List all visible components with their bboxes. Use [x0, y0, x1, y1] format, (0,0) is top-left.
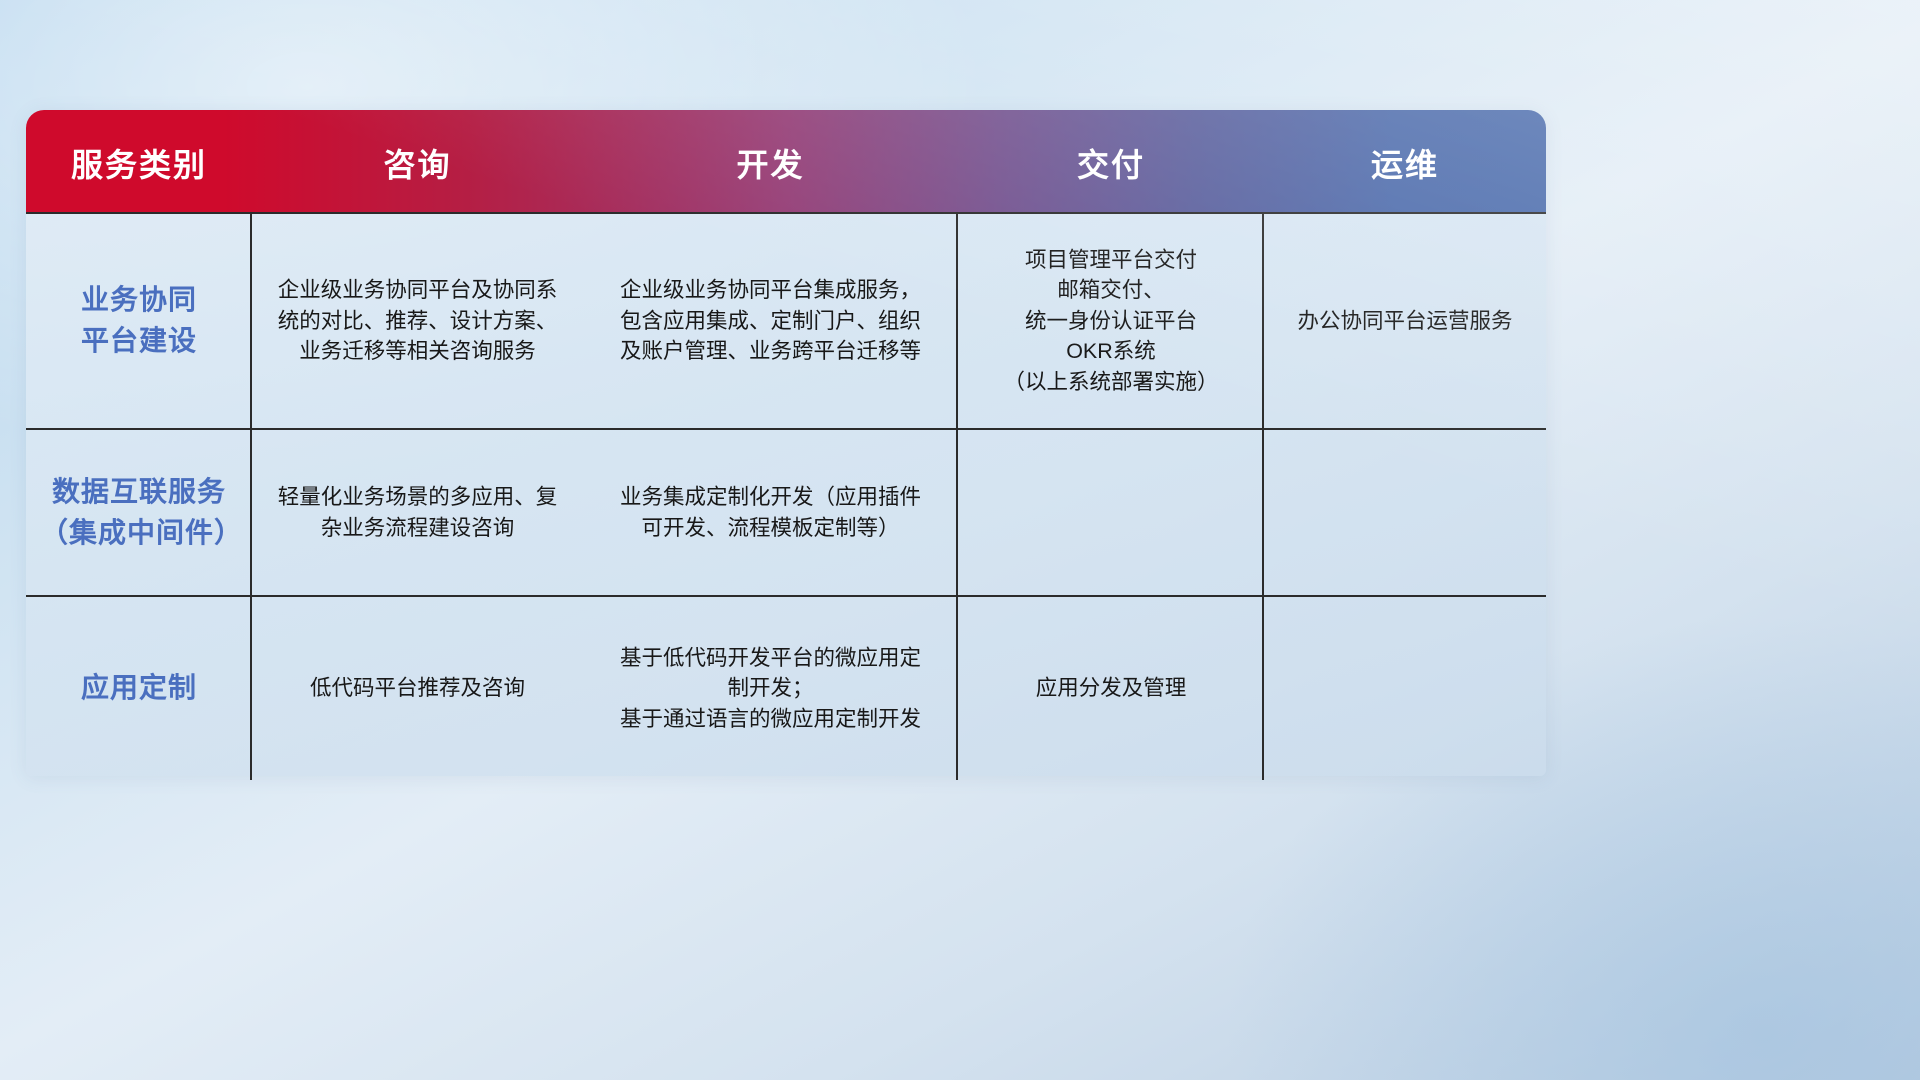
- table-row: 应用定制 低代码平台推荐及咨询 基于低代码开发平台的微应用定 制开发； 基于通过…: [26, 595, 1546, 780]
- service-matrix-table: 服务类别 咨询 开发 交付 运维: [26, 110, 1546, 776]
- cell-operations: [1264, 597, 1546, 780]
- column-header-operations: 运维: [1264, 110, 1546, 212]
- table-row: 业务协同 平台建设 企业级业务协同平台及协同系 统的对比、推荐、设计方案、 业务…: [26, 212, 1546, 428]
- cell-consulting-text: 低代码平台推荐及咨询: [310, 673, 525, 704]
- cell-operations-text: 办公协同平台运营服务: [1297, 306, 1512, 337]
- column-header-delivery-label: 交付: [1077, 140, 1145, 186]
- column-header-consulting-label: 咨询: [383, 140, 451, 186]
- cell-delivery: [958, 430, 1264, 595]
- cell-consulting: 企业级业务协同平台及协同系 统的对比、推荐、设计方案、 业务迁移等相关咨询服务: [252, 214, 583, 428]
- column-header-category-label: 服务类别: [71, 140, 207, 186]
- cell-operations: 办公协同平台运营服务: [1264, 214, 1546, 428]
- cell-development-text: 企业级业务协同平台集成服务， 包含应用集成、定制门户、组织 及账户管理、业务跨平…: [620, 275, 921, 367]
- cell-development-text: 业务集成定制化开发（应用插件 可开发、流程模板定制等）: [620, 482, 921, 543]
- row-category-label: 数据互联服务 （集成中间件）: [40, 472, 238, 553]
- row-category-label: 应用定制: [81, 668, 197, 709]
- cell-operations: [1264, 430, 1546, 595]
- table-row: 数据互联服务 （集成中间件） 轻量化业务场景的多应用、复 杂业务流程建设咨询 业…: [26, 428, 1546, 595]
- column-header-operations-label: 运维: [1371, 140, 1439, 186]
- cell-delivery: 应用分发及管理: [958, 597, 1264, 780]
- cell-consulting: 低代码平台推荐及咨询: [252, 597, 583, 780]
- cell-delivery: 项目管理平台交付 邮箱交付、 统一身份认证平台 OKR系统 （以上系统部署实施）: [958, 214, 1264, 428]
- row-category-cell: 应用定制: [26, 597, 252, 780]
- cell-development: 企业级业务协同平台集成服务， 包含应用集成、定制门户、组织 及账户管理、业务跨平…: [583, 214, 958, 428]
- cell-development: 业务集成定制化开发（应用插件 可开发、流程模板定制等）: [583, 430, 958, 595]
- cell-consulting: 轻量化业务场景的多应用、复 杂业务流程建设咨询: [252, 430, 583, 595]
- cell-consulting-text: 企业级业务协同平台及协同系 统的对比、推荐、设计方案、 业务迁移等相关咨询服务: [278, 275, 558, 367]
- cell-delivery-text: 应用分发及管理: [1036, 673, 1187, 704]
- table-header-row: 服务类别 咨询 开发 交付 运维: [26, 110, 1546, 212]
- row-category-label: 业务协同 平台建设: [81, 280, 197, 361]
- table-body: 业务协同 平台建设 企业级业务协同平台及协同系 统的对比、推荐、设计方案、 业务…: [26, 212, 1546, 780]
- column-header-consulting: 咨询: [252, 110, 583, 212]
- column-header-delivery: 交付: [958, 110, 1264, 212]
- column-header-category: 服务类别: [26, 110, 252, 212]
- column-header-development: 开发: [583, 110, 958, 212]
- cell-consulting-text: 轻量化业务场景的多应用、复 杂业务流程建设咨询: [278, 482, 558, 543]
- row-category-cell: 业务协同 平台建设: [26, 214, 252, 428]
- cell-development-text: 基于低代码开发平台的微应用定 制开发； 基于通过语言的微应用定制开发: [620, 643, 921, 735]
- cell-delivery-text: 项目管理平台交付 邮箱交付、 统一身份认证平台 OKR系统 （以上系统部署实施）: [1003, 245, 1218, 398]
- row-category-cell: 数据互联服务 （集成中间件）: [26, 430, 252, 595]
- column-header-development-label: 开发: [736, 140, 804, 186]
- page-root: 服务类别 咨询 开发 交付 运维: [0, 0, 1920, 1080]
- cell-development: 基于低代码开发平台的微应用定 制开发； 基于通过语言的微应用定制开发: [583, 597, 958, 780]
- service-matrix-card: 服务类别 咨询 开发 交付 运维: [26, 110, 1546, 776]
